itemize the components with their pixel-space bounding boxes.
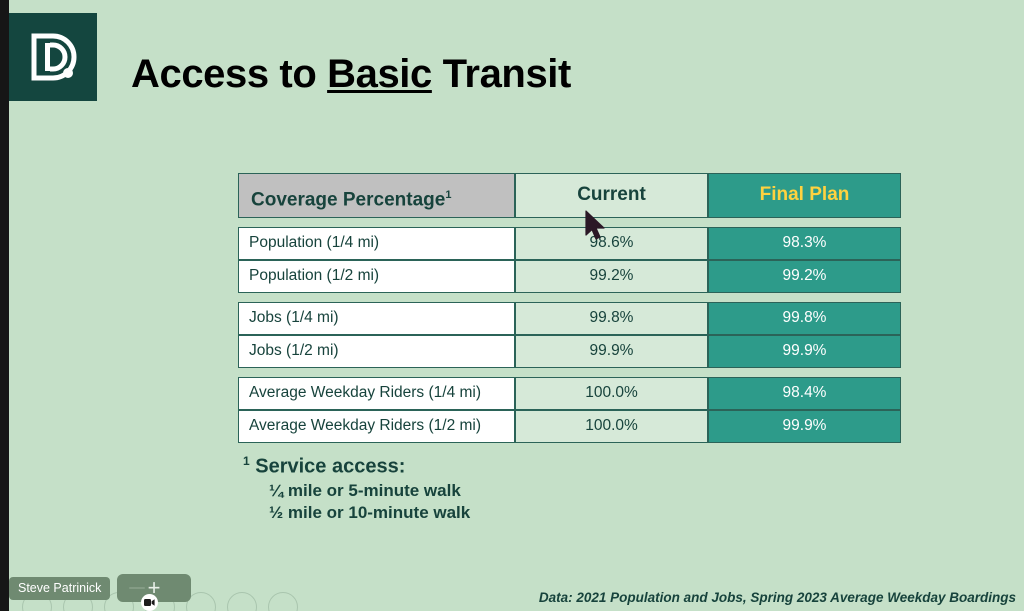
more-icon[interactable] xyxy=(268,592,298,611)
footnote-block: 1 Service access: ¼ mile or 5-minute wal… xyxy=(243,454,470,523)
cell-current: 99.2% xyxy=(515,260,708,293)
cell-final-plan: 99.2% xyxy=(708,260,901,293)
cell-final-plan: 98.3% xyxy=(708,227,901,260)
table-row: Population (1/2 mi) 99.2% 99.2% xyxy=(238,260,901,293)
participant-name-chip: Steve Patrinick xyxy=(9,577,110,600)
present-icon[interactable] xyxy=(227,592,257,611)
tile-placeholder-dash xyxy=(129,587,145,589)
footnote-title-text: Service access: xyxy=(255,456,405,478)
footnote-title: 1 Service access: xyxy=(243,454,470,479)
footnote-line-half-mile: ½ mile or 10-minute walk xyxy=(269,503,470,523)
cell-current: 99.9% xyxy=(515,335,708,368)
title-part-after: Transit xyxy=(432,52,571,96)
table-header-group: Coverage Percentage1 Current Final Plan xyxy=(238,173,901,218)
coverage-table: Coverage Percentage1 Current Final Plan … xyxy=(238,173,901,443)
table-group-population: Population (1/4 mi) 98.6% 98.3% Populati… xyxy=(238,227,901,293)
column-header-superscript: 1 xyxy=(445,189,451,201)
column-header-coverage-percentage: Coverage Percentage1 xyxy=(238,173,515,218)
table-row: Jobs (1/2 mi) 99.9% 99.9% xyxy=(238,335,901,368)
cell-final-plan: 99.9% xyxy=(708,335,901,368)
table-row: Average Weekday Riders (1/4 mi) 100.0% 9… xyxy=(238,377,901,410)
camera-icon[interactable] xyxy=(141,594,158,611)
table-header-row: Coverage Percentage1 Current Final Plan xyxy=(238,173,901,218)
table-group-jobs: Jobs (1/4 mi) 99.8% 99.8% Jobs (1/2 mi) … xyxy=(238,302,901,368)
table-row: Average Weekday Riders (1/2 mi) 100.0% 9… xyxy=(238,410,901,443)
row-label: Average Weekday Riders (1/4 mi) xyxy=(238,377,515,410)
table-row: Jobs (1/4 mi) 99.8% 99.8% xyxy=(238,302,901,335)
cell-current: 100.0% xyxy=(515,377,708,410)
row-label: Jobs (1/4 mi) xyxy=(238,302,515,335)
title-part-before: Access to xyxy=(131,52,327,96)
footnote-marker: 1 xyxy=(243,454,250,468)
table-row: Population (1/4 mi) 98.6% 98.3% xyxy=(238,227,901,260)
row-label: Population (1/2 mi) xyxy=(238,260,515,293)
cell-final-plan: 98.4% xyxy=(708,377,901,410)
cell-current: 98.6% xyxy=(515,227,708,260)
title-emphasis: Basic xyxy=(327,52,432,96)
column-header-current: Current xyxy=(515,173,708,218)
data-source-note: Data: 2021 Population and Jobs, Spring 2… xyxy=(539,590,1016,605)
column-header-final-plan: Final Plan xyxy=(708,173,901,218)
row-label: Jobs (1/2 mi) xyxy=(238,335,515,368)
row-label: Average Weekday Riders (1/2 mi) xyxy=(238,410,515,443)
cell-current: 100.0% xyxy=(515,410,708,443)
dart-d-logo xyxy=(9,13,97,101)
column-header-coverage-percentage-label: Coverage Percentage xyxy=(251,189,445,210)
slide-title: Access to Basic Transit xyxy=(131,52,571,97)
row-label: Population (1/4 mi) xyxy=(238,227,515,260)
window-left-edge-bar xyxy=(0,0,9,611)
cell-final-plan: 99.9% xyxy=(708,410,901,443)
table-group-riders: Average Weekday Riders (1/4 mi) 100.0% 9… xyxy=(238,377,901,443)
mouse-cursor xyxy=(585,210,607,242)
footnote-line-quarter-mile: ¼ mile or 5-minute walk xyxy=(269,481,470,501)
cell-current: 99.8% xyxy=(515,302,708,335)
cell-final-plan: 99.8% xyxy=(708,302,901,335)
